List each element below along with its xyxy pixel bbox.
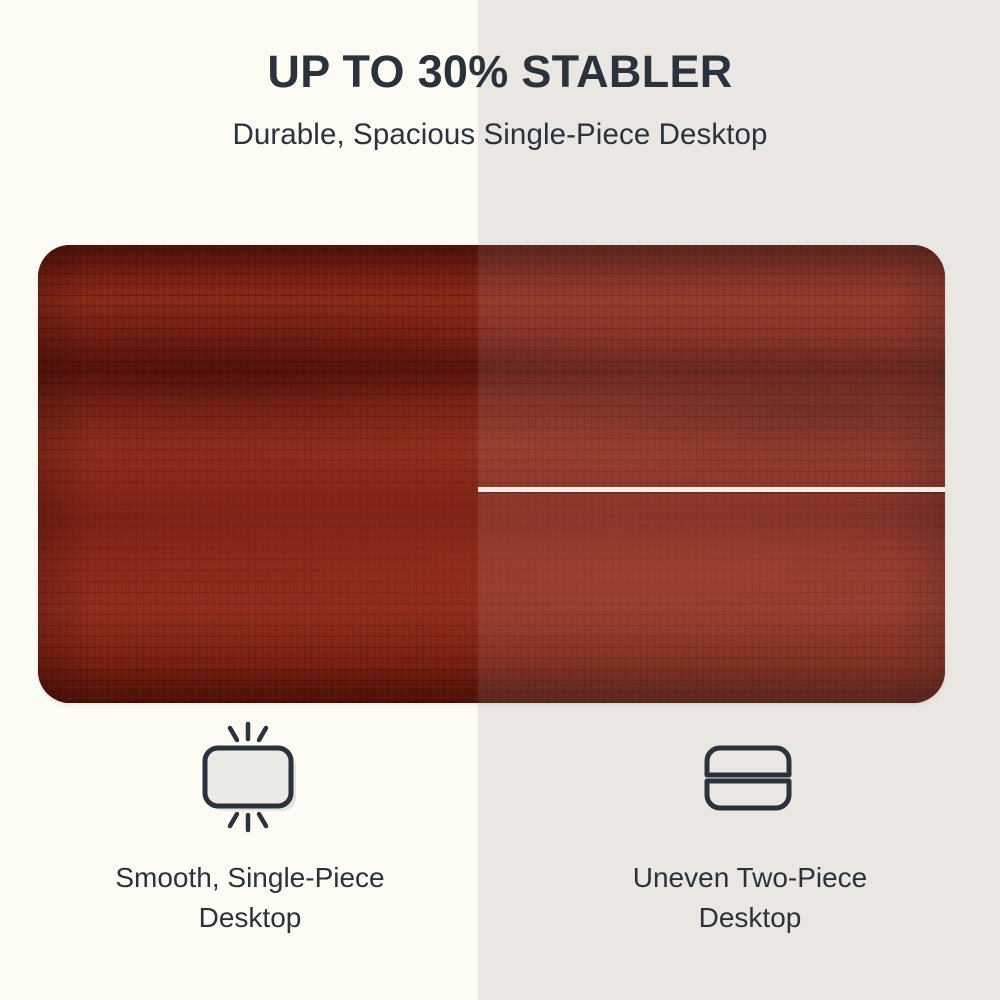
two-piece-icon-container [685, 718, 815, 836]
comparison-row: Smooth, Single-Piece Desktop Uneven Two-… [0, 718, 1000, 958]
single-piece-icon-container [185, 718, 315, 836]
caption-left-line1: Smooth, Single-Piece [115, 862, 384, 893]
two-piece-seam-line [478, 487, 945, 492]
desktop-product-image [38, 245, 945, 703]
two-piece-desktop-icon [685, 718, 815, 836]
comparison-column-left: Smooth, Single-Piece Desktop [0, 718, 500, 958]
header-block: UP TO 30% STABLER Durable, Spacious Sing… [0, 0, 1000, 153]
single-piece-desktop-icon [185, 718, 315, 836]
comparison-overlay-tint [478, 245, 945, 703]
caption-left-line2: Desktop [199, 902, 302, 933]
comparison-caption-left: Smooth, Single-Piece Desktop [115, 836, 384, 938]
comparison-caption-right: Uneven Two-Piece Desktop [633, 836, 868, 938]
caption-right-line1: Uneven Two-Piece [633, 862, 868, 893]
caption-right-line2: Desktop [699, 902, 802, 933]
infographic-canvas: UP TO 30% STABLER Durable, Spacious Sing… [0, 0, 1000, 1000]
comparison-column-right: Uneven Two-Piece Desktop [500, 718, 1000, 958]
page-title: UP TO 30% STABLER [0, 0, 1000, 95]
page-subtitle: Durable, Spacious Single-Piece Desktop [0, 95, 1000, 152]
